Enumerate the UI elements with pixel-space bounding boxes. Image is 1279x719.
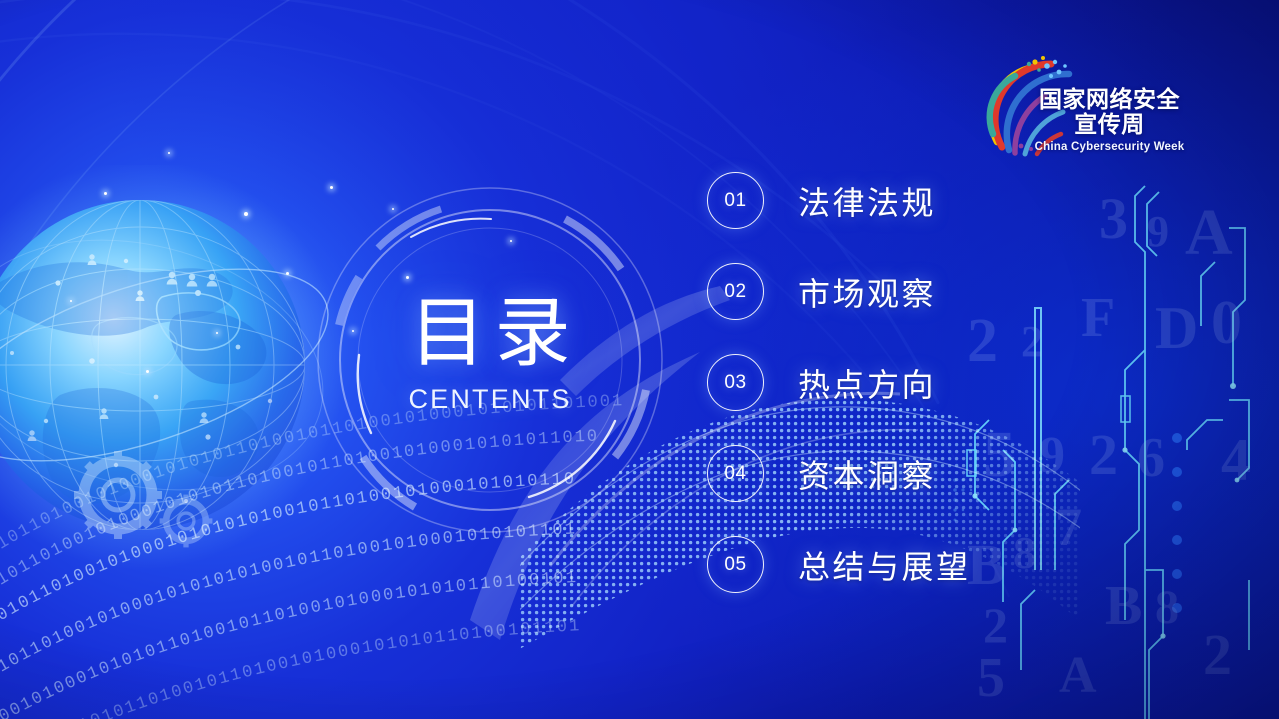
page-subtitle: CENTENTS bbox=[316, 384, 664, 415]
toc-number-badge: 05 bbox=[707, 536, 764, 593]
list-item[interactable]: 01 法律法规 bbox=[707, 155, 971, 246]
logo-name-line2: 宣传周 bbox=[1022, 113, 1197, 139]
toc-number-badge: 04 bbox=[707, 445, 764, 502]
list-item[interactable]: 02 市场观察 bbox=[707, 246, 971, 337]
presentation-slide: 0101001010110100101000101010101001011010… bbox=[0, 0, 1279, 719]
logo-text-block: 国家网络安全 宣传周 China Cybersecurity Week bbox=[1022, 88, 1197, 153]
list-item[interactable]: 03 热点方向 bbox=[707, 337, 971, 428]
contents-list: 01 法律法规 02 市场观察 03 热点方向 04 资本洞察 05 总结与展望 bbox=[707, 155, 971, 610]
toc-item-label: 市场观察 bbox=[798, 269, 936, 315]
toc-item-label: 总结与展望 bbox=[798, 542, 971, 588]
toc-number-badge: 02 bbox=[707, 263, 764, 320]
logo-name-english: China Cybersecurity Week bbox=[1022, 141, 1197, 153]
list-item[interactable]: 05 总结与展望 bbox=[707, 519, 971, 610]
toc-item-label: 热点方向 bbox=[798, 360, 936, 406]
toc-item-label: 资本洞察 bbox=[798, 451, 936, 497]
toc-number-badge: 01 bbox=[707, 172, 764, 229]
slide-title-block: 目录 CENTENTS bbox=[316, 296, 664, 415]
page-title: 目录 bbox=[316, 296, 664, 370]
toc-number-badge: 03 bbox=[707, 354, 764, 411]
logo-name-line1: 国家网络安全 bbox=[1022, 88, 1197, 113]
china-cybersecurity-week-logo: 国家网络安全 宣传周 China Cybersecurity Week bbox=[985, 48, 1200, 170]
toc-item-label: 法律法规 bbox=[798, 178, 936, 224]
list-item[interactable]: 04 资本洞察 bbox=[707, 428, 971, 519]
